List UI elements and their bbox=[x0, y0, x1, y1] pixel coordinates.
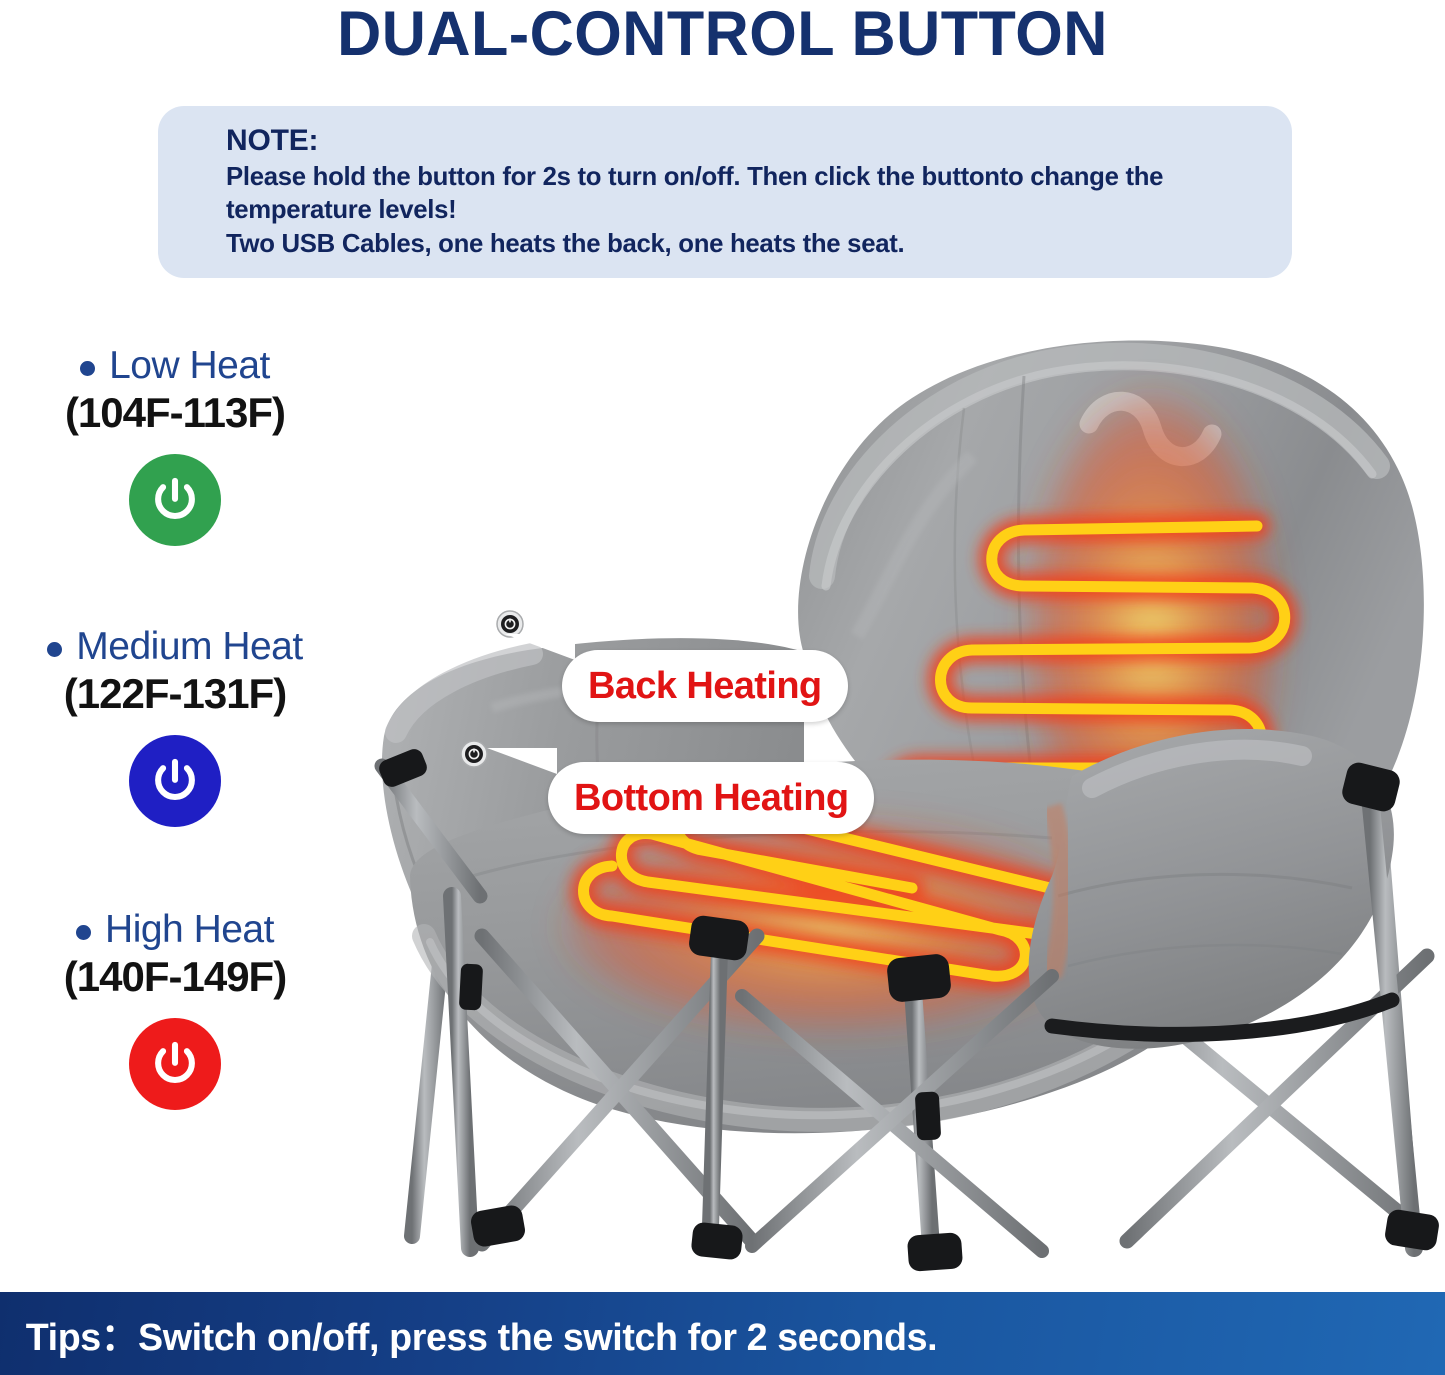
tips-text: Tips：Switch on/off, press the switch for… bbox=[0, 1306, 937, 1361]
note-line-2: temperature levels! bbox=[226, 193, 1254, 227]
callout-back-heating: Back Heating bbox=[562, 650, 848, 722]
heat-level-high: High Heat (140F-149F) bbox=[0, 908, 350, 1110]
note-line-1: Please hold the button for 2s to turn on… bbox=[226, 160, 1254, 194]
control-button-lower bbox=[461, 741, 487, 767]
heated-camping-chair-image bbox=[352, 336, 1445, 1296]
power-icon-medium[interactable] bbox=[129, 735, 221, 827]
page-title: DUAL-CONTROL BUTTON bbox=[22, 0, 1424, 70]
heat-level-medium-name-row: Medium Heat bbox=[0, 625, 350, 669]
tips-bar: Tips：Switch on/off, press the switch for… bbox=[0, 1292, 1445, 1375]
heat-level-low-name-row: Low Heat bbox=[0, 344, 350, 388]
bullet-icon bbox=[47, 642, 62, 657]
heat-level-medium: Medium Heat (122F-131F) bbox=[0, 625, 350, 827]
callout-bottom-tail bbox=[487, 748, 557, 774]
heat-level-high-name-row: High Heat bbox=[0, 908, 350, 952]
callout-back-tail bbox=[505, 634, 575, 660]
callout-bottom-heating-label: Bottom Heating bbox=[574, 777, 848, 820]
bullet-icon bbox=[76, 925, 91, 940]
power-icon-high[interactable] bbox=[129, 1018, 221, 1110]
heat-level-high-label: High Heat bbox=[105, 908, 274, 952]
note-line-3: Two USB Cables, one heats the back, one … bbox=[226, 227, 1254, 261]
callout-bottom-heating: Bottom Heating bbox=[548, 762, 874, 834]
power-icon-low[interactable] bbox=[129, 454, 221, 546]
note-box: NOTE: Please hold the button for 2s to t… bbox=[158, 106, 1292, 278]
heat-level-medium-range: (122F-131F) bbox=[0, 670, 350, 718]
heat-level-low: Low Heat (104F-113F) bbox=[0, 344, 350, 546]
note-heading: NOTE: bbox=[226, 122, 1264, 160]
callout-back-heating-label: Back Heating bbox=[588, 665, 822, 708]
bullet-icon bbox=[80, 361, 95, 376]
chair-right-arm bbox=[1029, 729, 1394, 1049]
heat-level-high-range: (140F-149F) bbox=[0, 953, 350, 1001]
heat-level-low-range: (104F-113F) bbox=[0, 389, 350, 437]
heat-level-medium-label: Medium Heat bbox=[76, 625, 302, 669]
heat-level-low-label: Low Heat bbox=[109, 344, 270, 388]
product-infographic: DUAL-CONTROL BUTTON NOTE: Please hold th… bbox=[0, 0, 1445, 1375]
